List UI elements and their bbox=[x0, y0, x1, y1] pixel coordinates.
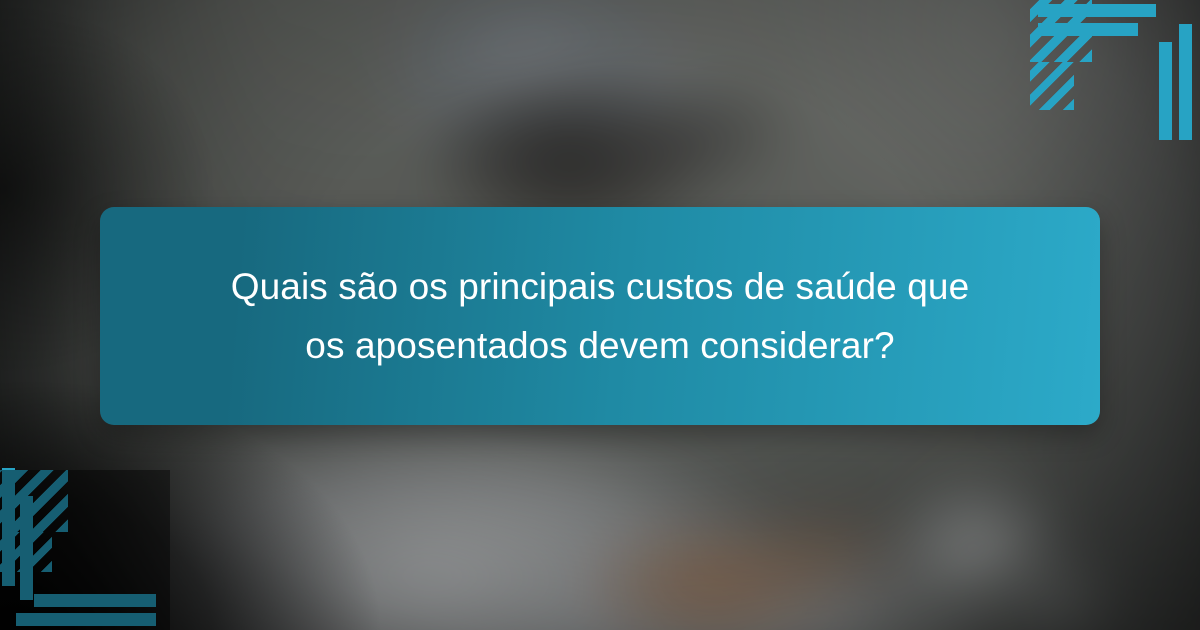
headline-banner: Quais são os principais custos de saúde … bbox=[100, 207, 1100, 425]
bracket-bar-vertical-inner bbox=[20, 496, 33, 600]
social-card-canvas: Quais são os principais custos de saúde … bbox=[0, 0, 1200, 630]
bracket-bar-horizontal-inner bbox=[1038, 23, 1138, 36]
bracket-bar-horizontal-outer bbox=[16, 613, 156, 626]
bracket-hatch-inner bbox=[1030, 62, 1074, 110]
bracket-bar-vertical-outer bbox=[1179, 24, 1192, 140]
bracket-bar-vertical-outer bbox=[2, 468, 15, 586]
bracket-bar-horizontal-outer bbox=[1038, 4, 1156, 17]
corner-bracket-bottom-left bbox=[0, 470, 170, 630]
corner-bracket-top-right bbox=[1030, 0, 1200, 140]
headline-line-2: os aposentados devem considerar? bbox=[305, 316, 894, 375]
headline-line-1: Quais são os principais custos de saúde … bbox=[231, 257, 970, 316]
bracket-bar-horizontal-inner bbox=[34, 594, 156, 607]
bracket-bar-vertical-inner bbox=[1159, 42, 1172, 140]
